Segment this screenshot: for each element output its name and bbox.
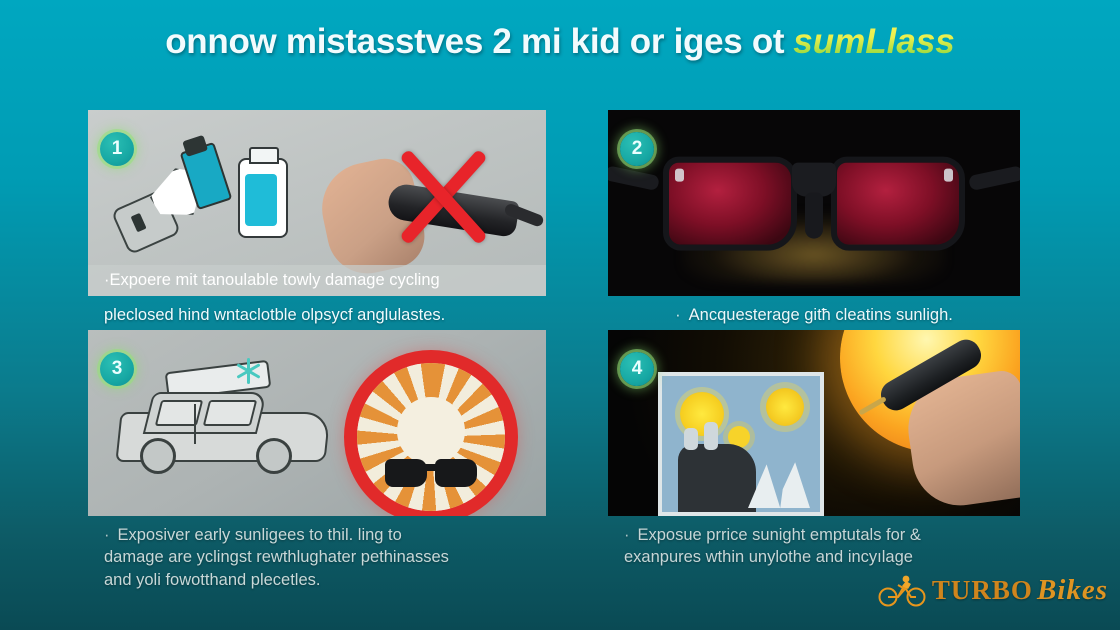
sun-core <box>397 397 465 465</box>
car-cabin <box>143 392 267 434</box>
panel-4-caption-text1: Exposue prrice sunight emptutals for & <box>638 526 921 544</box>
panel-2-caption-text1: Ancquesterage gitħ cleatins sunligh. <box>689 306 953 324</box>
car-sketch-icon <box>118 374 328 478</box>
temple-left <box>608 165 660 191</box>
bridge <box>792 163 836 197</box>
car-wheel-rear <box>256 438 292 474</box>
page-title: onnow mistasstves 2 mi kid or iges otsum… <box>0 22 1120 62</box>
panel-1-caption-text1: Expoere mit tanoulable towly damage cycl… <box>110 271 440 289</box>
card-sun-medium <box>766 388 804 426</box>
uv-test-card-icon <box>658 372 824 516</box>
panel-3-caption: ·Exposiver early sunligees to thil. ling… <box>88 516 546 597</box>
panel-4-caption-row1: ·Exposue prrice sunight emptutals for & <box>624 524 1016 546</box>
panel-2-badge: 2 <box>620 132 654 166</box>
nose-pad <box>805 193 823 239</box>
no-sun-prohibition-sign-icon <box>344 350 518 516</box>
panel-3-caption-text1: Exposiver early sunligees to thil. ling … <box>118 526 402 544</box>
panel-3-media: 3 <box>88 330 546 516</box>
brand-logo[interactable]: TURBOBikes <box>878 564 1108 616</box>
panel-1-media: 1 ·Expoere mit tanoulable towly damage c… <box>88 110 546 296</box>
panel-3-caption-row1: ·Exposiver early sunligees to thil. ling… <box>104 524 542 546</box>
solution-jar-icon <box>238 158 288 238</box>
highlight-right <box>944 169 953 182</box>
jar-liquid <box>245 174 277 226</box>
panel-4[interactable]: 4 ·Exposue prrice sunight emptutals for … <box>608 330 1020 575</box>
panel-3-badge: 3 <box>100 352 134 386</box>
panel-1-caption: pleclosed hind wntaclotble olpsycf anglu… <box>88 296 546 332</box>
page-title-highlight: sumLlass <box>793 22 954 61</box>
sparkle-icon <box>236 358 262 384</box>
panel-1-caption-text2: pleclosed hind wntaclotble olpsycf anglu… <box>104 306 445 324</box>
page-title-main: onnow mistasstves 2 mi kid or iges ot <box>165 22 784 61</box>
bullet-dot: · <box>675 306 681 324</box>
car-wheel-front <box>140 438 176 474</box>
panel-4-badge: 4 <box>620 352 654 386</box>
logo-brand: TURBO <box>932 575 1033 605</box>
panel-1-badge: 1 <box>100 132 134 166</box>
panel-grid: 1 ·Expoere mit tanoulable towly damage c… <box>88 110 1028 590</box>
panel-1-caption-line1: ·Expoere mit tanoulable towly damage cyc… <box>88 265 546 296</box>
car-window-rear <box>203 400 257 426</box>
panel-1[interactable]: 1 ·Expoere mit tanoulable towly damage c… <box>88 110 546 332</box>
panel-2-media: 2 <box>608 110 1020 296</box>
panel-2-caption: ·Ancquesterage gitħ cleatins sunligh. <box>608 296 1020 332</box>
red-cross-icon <box>384 138 502 256</box>
temple-right <box>968 165 1020 191</box>
panel-3[interactable]: 3 ·Exposiver early sunligees to t <box>88 330 546 597</box>
red-lens-sunglasses-icon <box>649 141 979 271</box>
bullet-dot: · <box>624 526 630 544</box>
sunglasses-icon <box>385 459 477 489</box>
logo-wordmark: TURBOBikes <box>932 574 1108 607</box>
panel-2[interactable]: 2 ·Ancquesterage gitħ cleatins sunligh. <box>608 110 1020 332</box>
cyclist-icon <box>878 573 926 607</box>
card-glove-icon <box>678 444 756 512</box>
panel-3-caption-text2: damage are yclingst rewthlughater pethin… <box>104 546 542 568</box>
panel-4-media: 4 <box>608 330 1020 516</box>
card-mountain-icon <box>748 456 810 508</box>
panel-3-caption-text3: and yoli fowotthand plecetles. <box>104 569 542 591</box>
bullet-dot: · <box>104 526 110 544</box>
car-door-line <box>194 404 196 444</box>
highlight-left <box>675 169 684 182</box>
logo-brand-italic: Bikes <box>1037 574 1108 606</box>
